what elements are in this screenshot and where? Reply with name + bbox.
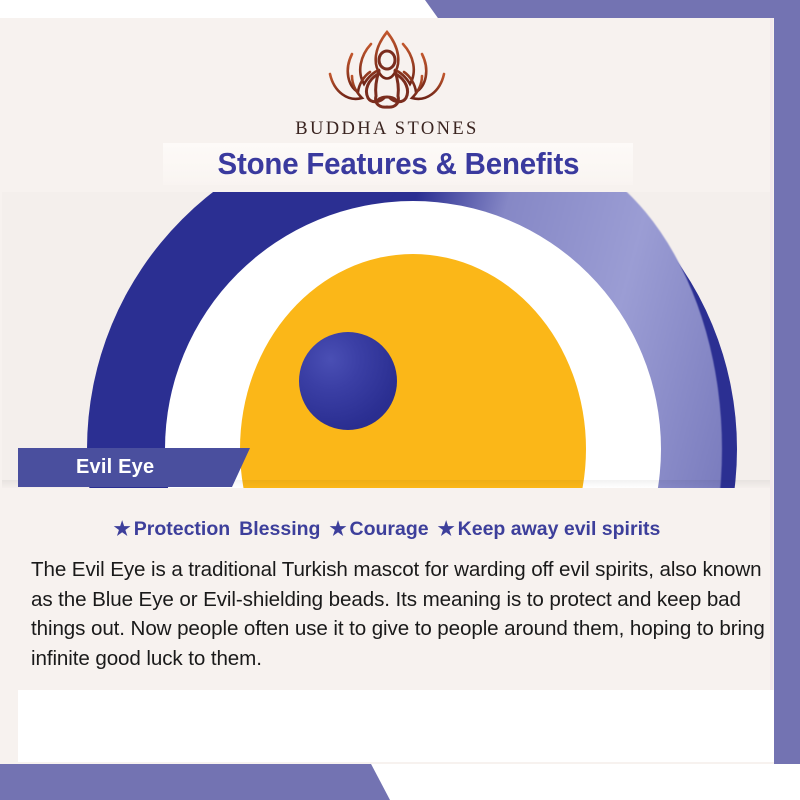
benefit-label: Courage: [349, 518, 428, 541]
description-text: The Evil Eye is a traditional Turkish ma…: [31, 555, 775, 673]
frame-accent-bottom-left: [0, 762, 800, 800]
benefit-label: Protection: [134, 518, 230, 541]
benefit-item-keep-away-evil-spirits: ★ Keep away evil spirits: [438, 518, 661, 541]
page-title: Stone Features & Benefits: [217, 146, 579, 182]
title-band: Stone Features & Benefits: [163, 143, 633, 185]
benefits-row: ★ Protection Blessing ★ Courage ★ Keep a…: [0, 518, 774, 541]
bead-blue-pupil: [299, 332, 397, 430]
star-icon: ★: [438, 520, 455, 539]
brand-header: BUDDHA STONES: [0, 22, 774, 146]
benefit-item-courage: ★ Courage: [329, 518, 428, 541]
product-name-label: Evil Eye: [18, 456, 154, 479]
star-icon: ★: [329, 520, 346, 539]
benefit-label: Blessing: [239, 518, 320, 541]
brand-name: BUDDHA STONES: [295, 119, 479, 140]
frame-accent-right: [774, 0, 800, 764]
star-icon: ★: [114, 520, 131, 539]
evil-eye-bead-icon: [2, 192, 770, 488]
benefit-item-protection: ★ Protection: [114, 518, 230, 541]
benefit-item-blessing: Blessing: [239, 518, 320, 541]
bottom-white-area: [18, 690, 774, 762]
product-name-banner: Evil Eye: [18, 448, 250, 487]
lotus-meditation-icon: [312, 26, 462, 118]
benefit-label: Keep away evil spirits: [458, 518, 661, 541]
infographic-poster: BUDDHA STONES Stone Features & Benefits …: [0, 0, 800, 800]
